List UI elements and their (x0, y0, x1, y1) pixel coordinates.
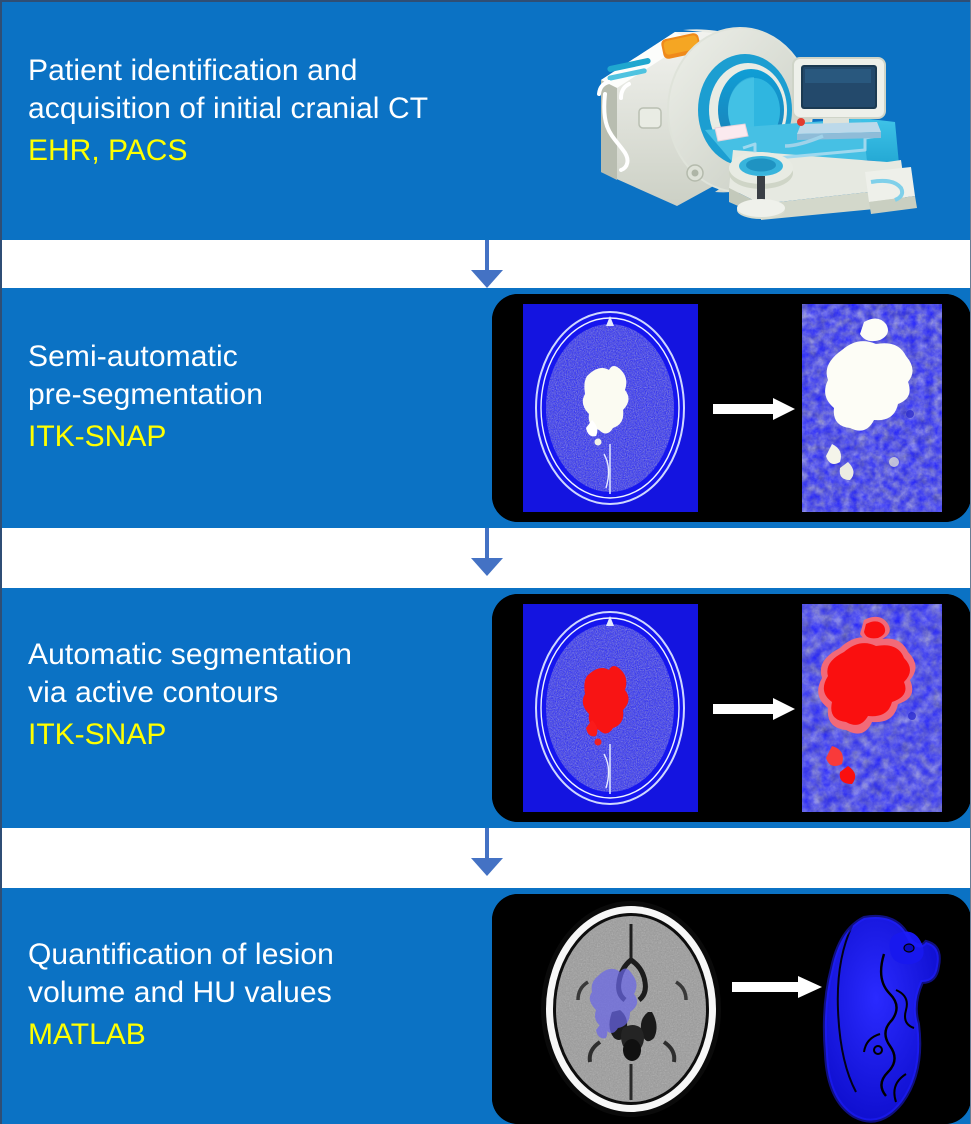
ct-scanner-illustration (565, 10, 971, 240)
connector-arrow-2 (0, 528, 971, 576)
step-3-title: Automatic segmentation via active contou… (28, 636, 352, 712)
workflow-step-4: Quantification of lesion volume and HU v… (0, 888, 971, 1124)
page-left-border (0, 0, 2, 1124)
step-1-title: Patient identification and acquisition o… (28, 52, 428, 128)
workflow-step-2: Semi-automatic pre-segmentation ITK-SNAP (0, 288, 971, 528)
step-2-title: Semi-automatic pre-segmentation (28, 338, 263, 414)
down-arrow-icon (471, 270, 503, 288)
connector-arrow-3 (0, 828, 971, 876)
step-2-tool-label: ITK-SNAP (28, 418, 263, 456)
step-3-tool-label: ITK-SNAP (28, 716, 352, 754)
step-3-image-card (492, 594, 971, 822)
step-4-tool-label: MATLAB (28, 1016, 334, 1054)
flowchart-page: Patient identification and acquisition o… (0, 0, 971, 1124)
step-4-image-card (492, 894, 971, 1124)
down-arrow-icon (471, 858, 503, 876)
step-4-title: Quantification of lesion volume and HU v… (28, 936, 334, 1012)
connector-shaft (485, 240, 489, 272)
connector-arrow-1 (0, 240, 971, 288)
step-2-text-block: Semi-automatic pre-segmentation ITK-SNAP (28, 338, 263, 456)
connector-shaft (485, 828, 489, 860)
step-1-text-block: Patient identification and acquisition o… (28, 52, 428, 170)
step-3-text-block: Automatic segmentation via active contou… (28, 636, 352, 754)
step-2-image-card (492, 294, 971, 522)
workflow-step-3: Automatic segmentation via active contou… (0, 588, 971, 828)
step-1-tool-label: EHR, PACS (28, 132, 428, 170)
connector-shaft (485, 528, 489, 560)
step-4-text-block: Quantification of lesion volume and HU v… (28, 936, 334, 1054)
down-arrow-icon (471, 558, 503, 576)
workflow-step-1: Patient identification and acquisition o… (0, 2, 971, 240)
